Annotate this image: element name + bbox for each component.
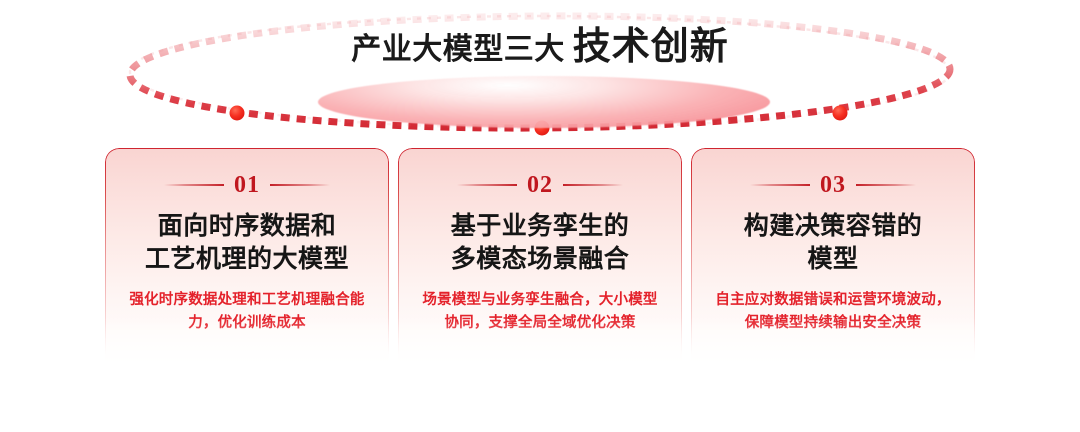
card-description: 自主应对数据错误和运营环境波动， 保障模型持续输出安全决策 — [707, 289, 959, 335]
card-headline-line: 工艺机理的大模型 — [121, 243, 373, 276]
divider-right-icon — [856, 184, 916, 186]
title-highlight-blob — [318, 76, 770, 128]
card-headline: 面向时序数据和 工艺机理的大模型 — [121, 210, 373, 276]
card-content: 02 基于业务孪生的 多模态场景融合 场景模型与业务孪生融合，大小模型 协同，支… — [398, 148, 682, 384]
feature-card-list: 01 面向时序数据和 工艺机理的大模型 强化时序数据处理和工艺机理融合能 力，优… — [0, 148, 1080, 388]
card-description: 场景模型与业务孪生融合，大小模型 协同，支撑全局全域优化决策 — [414, 289, 666, 335]
divider-left-icon — [164, 184, 224, 186]
card-number: 02 — [527, 173, 553, 197]
card-number: 01 — [234, 173, 260, 197]
divider-right-icon — [563, 184, 623, 186]
card-headline-line: 面向时序数据和 — [121, 210, 373, 243]
page-title-prefix: 产业大模型三大 — [351, 33, 565, 66]
divider-left-icon — [750, 184, 810, 186]
card-description: 强化时序数据处理和工艺机理融合能 力，优化训练成本 — [121, 289, 373, 335]
card-headline: 基于业务孪生的 多模态场景融合 — [414, 210, 666, 276]
card-description-line: 力，优化训练成本 — [121, 312, 373, 335]
card-description-line: 自主应对数据错误和运营环境波动， — [707, 289, 959, 312]
card-number-row: 03 — [707, 174, 959, 196]
page-title-emphasis: 技术创新 — [573, 26, 729, 68]
card-content: 03 构建决策容错的 模型 自主应对数据错误和运营环境波动， 保障模型持续输出安… — [691, 148, 975, 384]
card-description-line: 协同，支撑全局全域优化决策 — [414, 312, 666, 335]
feature-card[interactable]: 02 基于业务孪生的 多模态场景融合 场景模型与业务孪生融合，大小模型 协同，支… — [398, 148, 682, 384]
card-description-line: 保障模型持续输出安全决策 — [707, 312, 959, 335]
card-number-row: 02 — [414, 174, 666, 196]
card-headline-line: 基于业务孪生的 — [414, 210, 666, 243]
divider-left-icon — [457, 184, 517, 186]
card-headline-line: 多模态场景融合 — [414, 243, 666, 276]
card-content: 01 面向时序数据和 工艺机理的大模型 强化时序数据处理和工艺机理融合能 力，优… — [105, 148, 389, 384]
card-description-line: 强化时序数据处理和工艺机理融合能 — [121, 289, 373, 312]
divider-right-icon — [270, 184, 330, 186]
page-title-zone: 产业大模型三大技术创新 — [0, 28, 1080, 108]
card-headline-line: 构建决策容错的 — [707, 210, 959, 243]
infographic-canvas: 产业大模型三大技术创新 01 面向时序数据和 工艺机理的大模型 强化时序数据处理… — [0, 0, 1080, 432]
card-headline-line: 模型 — [707, 243, 959, 276]
card-headline: 构建决策容错的 模型 — [707, 210, 959, 276]
card-description-line: 场景模型与业务孪生融合，大小模型 — [414, 289, 666, 312]
feature-card[interactable]: 01 面向时序数据和 工艺机理的大模型 强化时序数据处理和工艺机理融合能 力，优… — [105, 148, 389, 384]
page-title: 产业大模型三大技术创新 — [0, 28, 1080, 66]
card-number-row: 01 — [121, 174, 373, 196]
feature-card[interactable]: 03 构建决策容错的 模型 自主应对数据错误和运营环境波动， 保障模型持续输出安… — [691, 148, 975, 384]
card-number: 03 — [820, 173, 846, 197]
